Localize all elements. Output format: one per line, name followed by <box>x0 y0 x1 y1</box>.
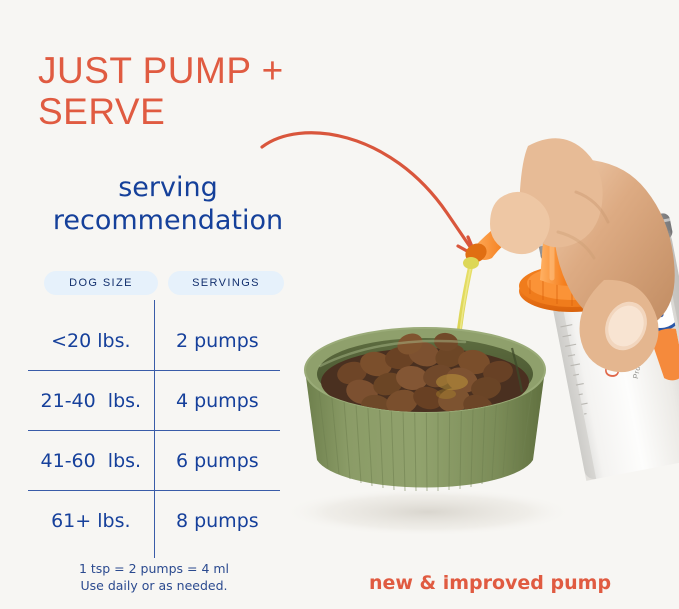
product-photo: OMEGA OIL Promotes skin, coat, & joint h… <box>260 120 679 560</box>
table-header-row: DOG SIZE SERVINGS <box>44 271 294 295</box>
advertisement-canvas: Just pump + serve serving recommendation… <box>0 0 679 609</box>
hand <box>490 138 675 372</box>
column-header-dog-size: DOG SIZE <box>44 271 158 295</box>
serving-footnote: 1 tsp = 2 pumps = 4 ml Use daily or as n… <box>28 561 280 594</box>
table-row: 61+ lbs. 8 pumps <box>28 491 280 551</box>
bowl-shadow <box>283 488 573 536</box>
cell-dog-size: <20 lbs. <box>28 311 154 371</box>
product-caption: new & improved pump <box>350 572 630 594</box>
table-row: 41-60 lbs. 6 pumps <box>28 431 280 491</box>
serving-recommendation-table: <20 lbs. 2 pumps 21-40 lbs. 4 pumps 41-6… <box>28 311 280 550</box>
dog-bowl <box>305 328 545 491</box>
table-row: 21-40 lbs. 4 pumps <box>28 371 280 431</box>
cell-dog-size: 21-40 lbs. <box>28 371 154 431</box>
cell-dog-size: 61+ lbs. <box>28 491 154 551</box>
curved-arrow-icon <box>262 133 476 256</box>
cell-dog-size: 41-60 lbs. <box>28 431 154 491</box>
table-row: <20 lbs. 2 pumps <box>28 311 280 371</box>
